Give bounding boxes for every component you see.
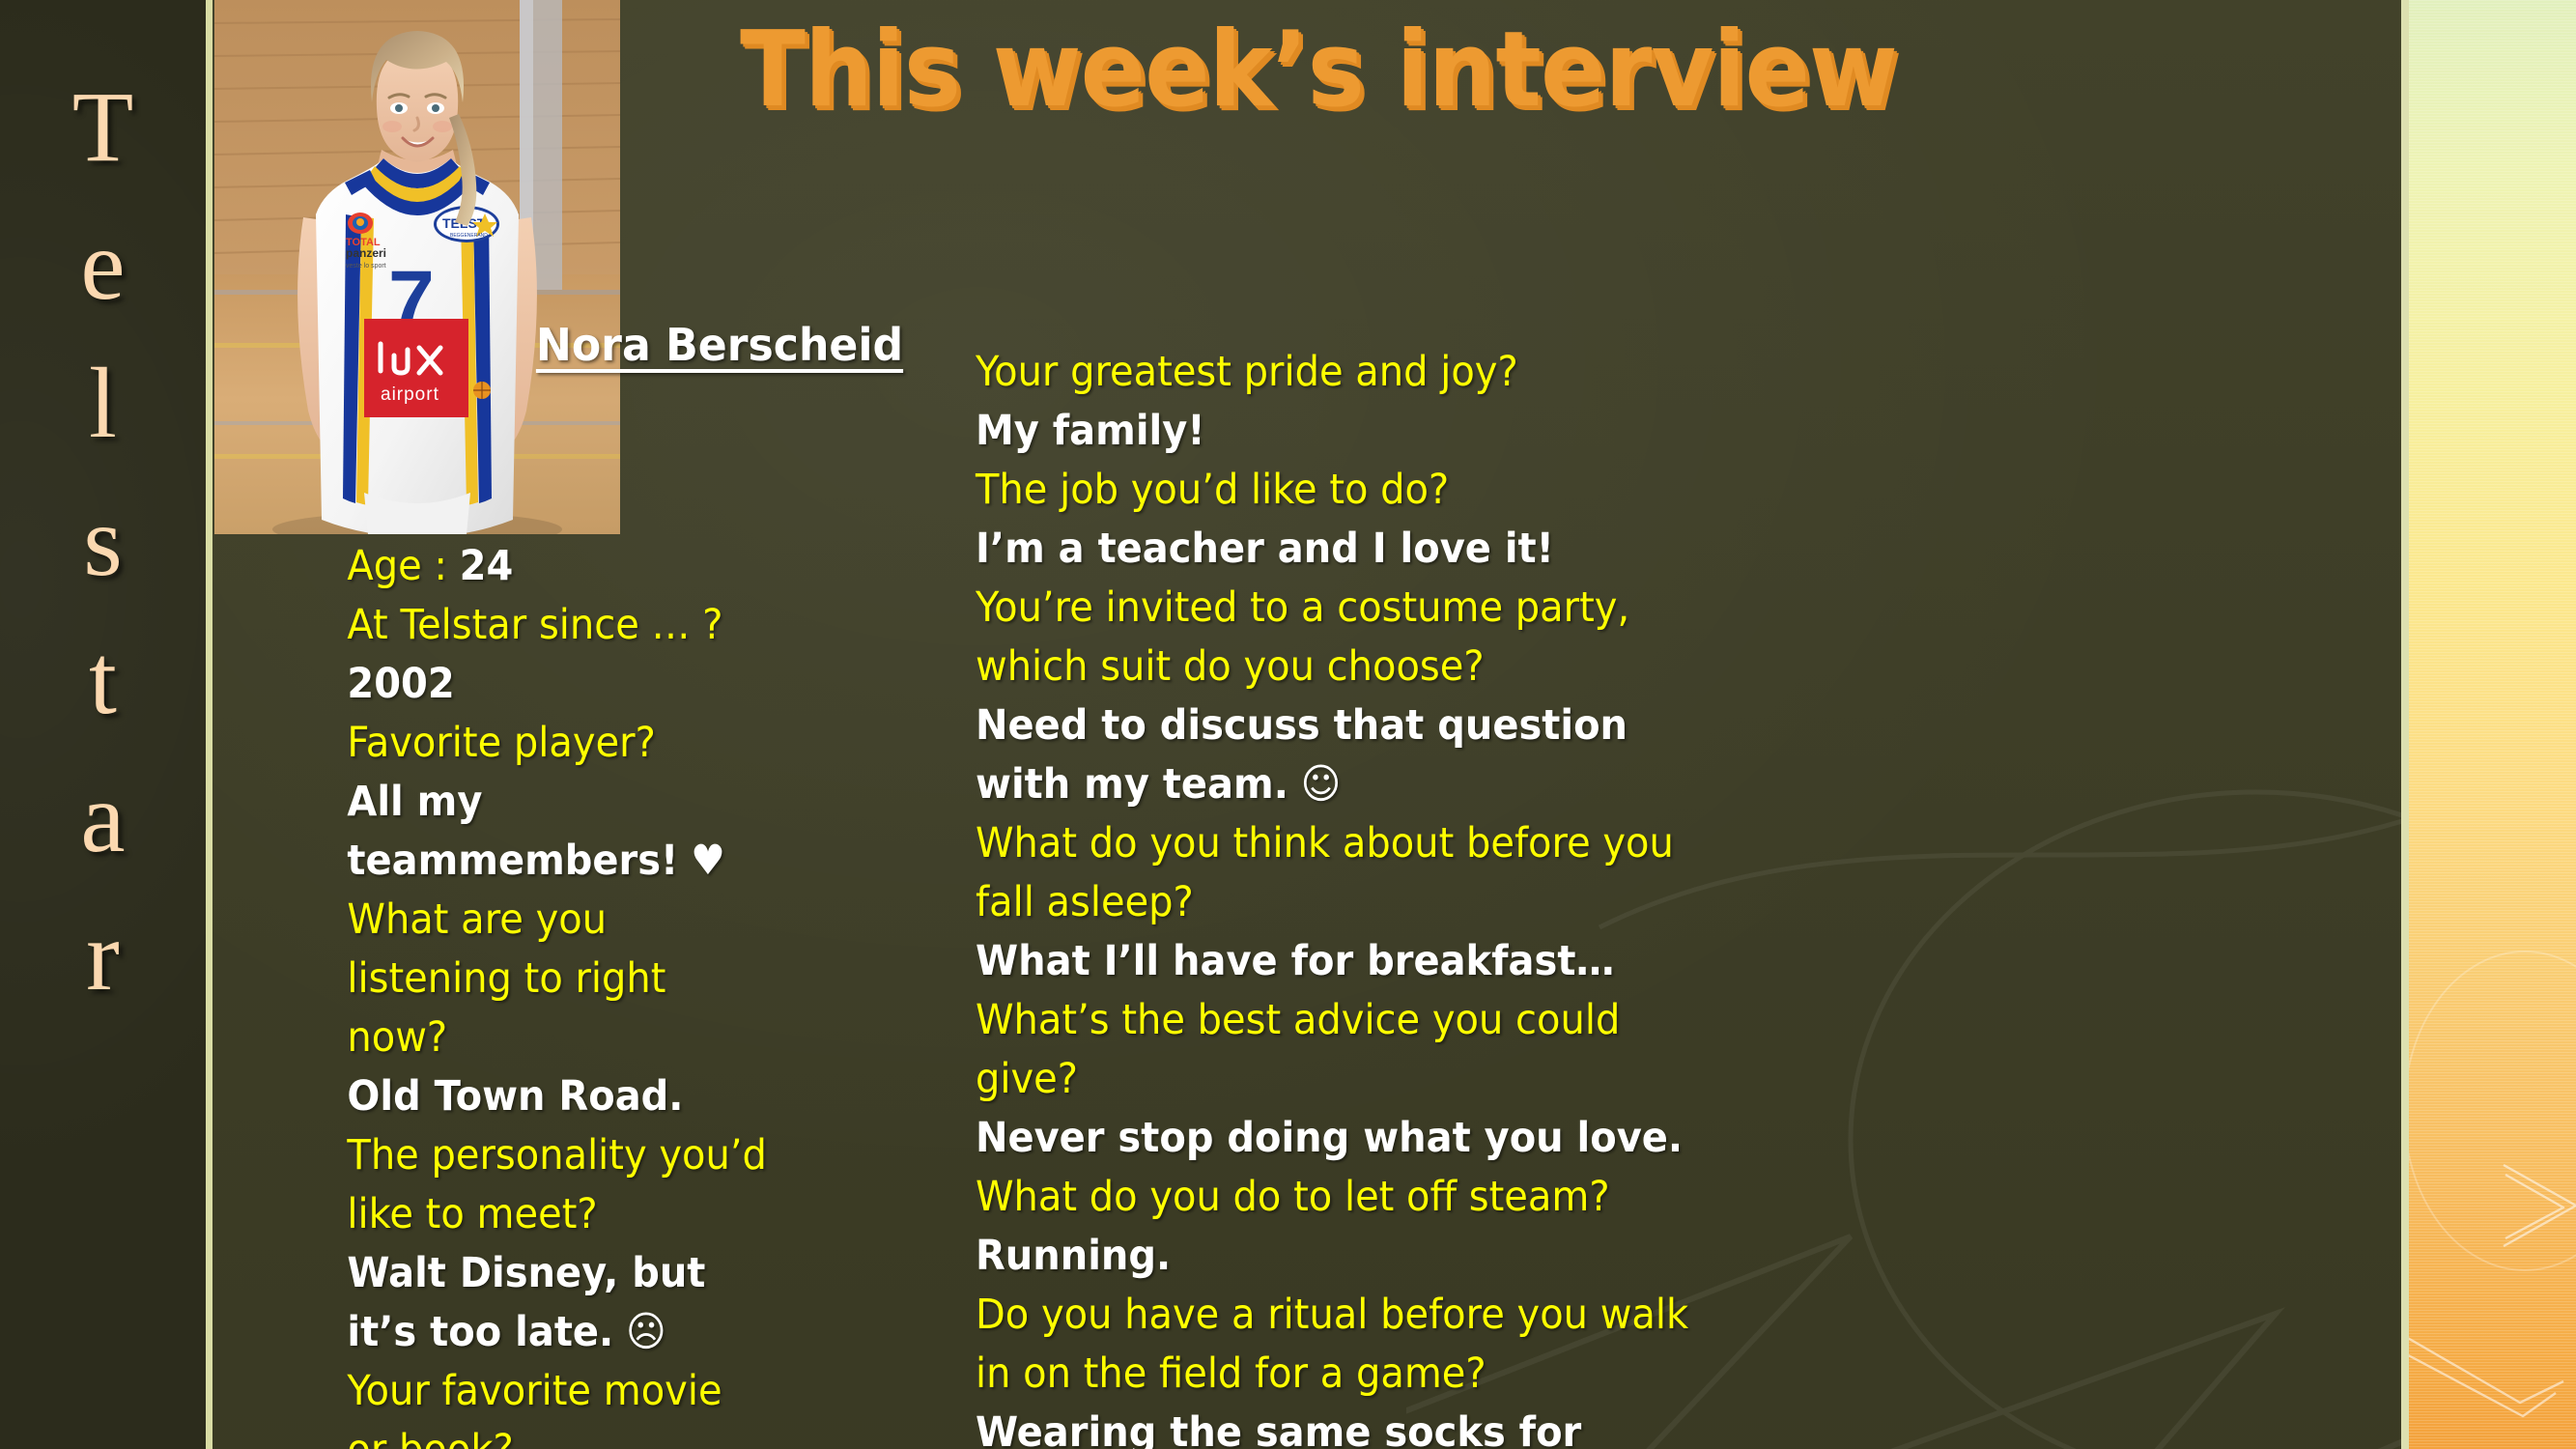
brand-letter-4: t xyxy=(89,611,117,749)
left-inline-answer-0: 24 xyxy=(460,542,514,590)
text: What do you think about before you fall … xyxy=(976,819,1674,926)
svg-text:veste lo sport: veste lo sport xyxy=(346,263,386,270)
main-content-panel: TOTAL panzeri veste lo sport TELST BEGGE… xyxy=(212,0,2401,1449)
text: What’s the best advice you could give? xyxy=(976,996,1620,1103)
right-gradient-band xyxy=(2409,0,2576,1449)
band-zigzag-decoration xyxy=(2409,0,2576,1449)
left-inline-answer-1: 2002 xyxy=(347,660,454,708)
right-question-8: What’s the best advice you could give? xyxy=(976,991,1694,1109)
emoji-icon: ☹ xyxy=(613,1308,665,1356)
right-answer-1: My family! xyxy=(976,402,1694,461)
text: You’re invited to a costume party, which… xyxy=(976,583,1629,691)
right-question-10: What do you do to let off steam? xyxy=(976,1168,1694,1227)
interview-slide: Telstar xyxy=(0,0,2576,1449)
left-question-0: Age : 24 xyxy=(347,537,769,596)
brand-letter-6: r xyxy=(86,887,120,1025)
left-question-1: At Telstar since … ? 2002 xyxy=(347,596,769,714)
player-photo-image: TOTAL panzeri veste lo sport TELST BEGGE… xyxy=(214,0,620,534)
right-qa-column: Your greatest pride and joy?My family!Th… xyxy=(976,343,1694,1449)
player-name: Nora Berscheid xyxy=(405,319,1035,371)
text: My family! xyxy=(976,407,1205,455)
emoji-icon: ♥ xyxy=(678,837,725,885)
text: The personality you’d like to meet? xyxy=(347,1131,767,1238)
svg-text:panzeri: panzeri xyxy=(346,246,386,260)
right-divider-rule xyxy=(2401,0,2409,1449)
text: At Telstar since … ? xyxy=(347,601,722,649)
left-answer-5: Old Town Road. xyxy=(347,1067,769,1126)
emoji-icon: ☺ xyxy=(1288,760,1341,809)
text: What I’ll have for breakfast… xyxy=(976,937,1614,985)
right-question-12: Do you have a ritual before you walk in … xyxy=(976,1286,1694,1404)
left-question-4: What are you listening to right now? xyxy=(347,891,769,1067)
right-question-2: The job you’d like to do? xyxy=(976,461,1694,520)
left-question-6: The personality you’d like to meet? xyxy=(347,1126,769,1244)
brand-letter-5: a xyxy=(80,749,125,887)
right-question-4: You’re invited to a costume party, which… xyxy=(976,579,1694,696)
text: Age : xyxy=(347,542,459,590)
text: Wearing the same socks for every game! xyxy=(976,1408,1581,1449)
svg-text:airport: airport xyxy=(381,384,439,405)
brand-letter-1: e xyxy=(80,196,125,334)
player-photo: TOTAL panzeri veste lo sport TELST BEGGE… xyxy=(214,0,620,534)
left-sidebar-strip: Telstar xyxy=(0,0,206,1449)
text: The job you’d like to do? xyxy=(976,466,1449,514)
left-question-2: Favorite player? xyxy=(347,714,769,773)
left-answer-7: Walt Disney, but it’s too late. ☹ xyxy=(347,1244,769,1362)
text: Do you have a ritual before you walk in … xyxy=(976,1291,1688,1398)
right-answer-13: Wearing the same socks for every game! xyxy=(976,1404,1694,1449)
text: Your greatest pride and joy? xyxy=(976,348,1518,396)
brand-letter-0: T xyxy=(72,58,134,196)
left-qa-column: Age : 24At Telstar since … ? 2002Favorit… xyxy=(212,537,770,1449)
left-question-8: Your favorite movie or book? xyxy=(347,1362,769,1449)
brand-letter-2: l xyxy=(89,334,117,472)
right-answer-11: Running. xyxy=(976,1227,1694,1286)
right-answer-3: I’m a teacher and I love it! xyxy=(976,520,1694,579)
text: Running. xyxy=(976,1232,1171,1280)
right-answer-9: Never stop doing what you love. xyxy=(976,1109,1694,1168)
vertical-brand-telstar: Telstar xyxy=(0,58,206,1025)
page-title: This week’s interview xyxy=(638,17,1998,124)
left-divider-rule xyxy=(206,0,212,1449)
text: Favorite player? xyxy=(347,719,655,767)
right-question-6: What do you think about before you fall … xyxy=(976,814,1694,932)
left-answer-3: All my teammembers! ♥ xyxy=(347,773,769,891)
text: Never stop doing what you love. xyxy=(976,1114,1683,1162)
brand-letter-3: s xyxy=(83,472,122,611)
svg-text:BEGGENERAND: BEGGENERAND xyxy=(450,233,488,239)
right-answer-7: What I’ll have for breakfast… xyxy=(976,932,1694,991)
text: Your favorite movie or book? xyxy=(347,1367,722,1449)
text: Old Town Road. xyxy=(347,1072,683,1121)
text: What are you listening to right now? xyxy=(347,895,665,1062)
right-answer-5: Need to discuss that question with my te… xyxy=(976,696,1694,814)
text: All my teammembers! xyxy=(347,778,678,885)
text: What do you do to let off steam? xyxy=(976,1173,1610,1221)
right-question-0: Your greatest pride and joy? xyxy=(976,343,1694,402)
text: I’m a teacher and I love it! xyxy=(976,525,1554,573)
